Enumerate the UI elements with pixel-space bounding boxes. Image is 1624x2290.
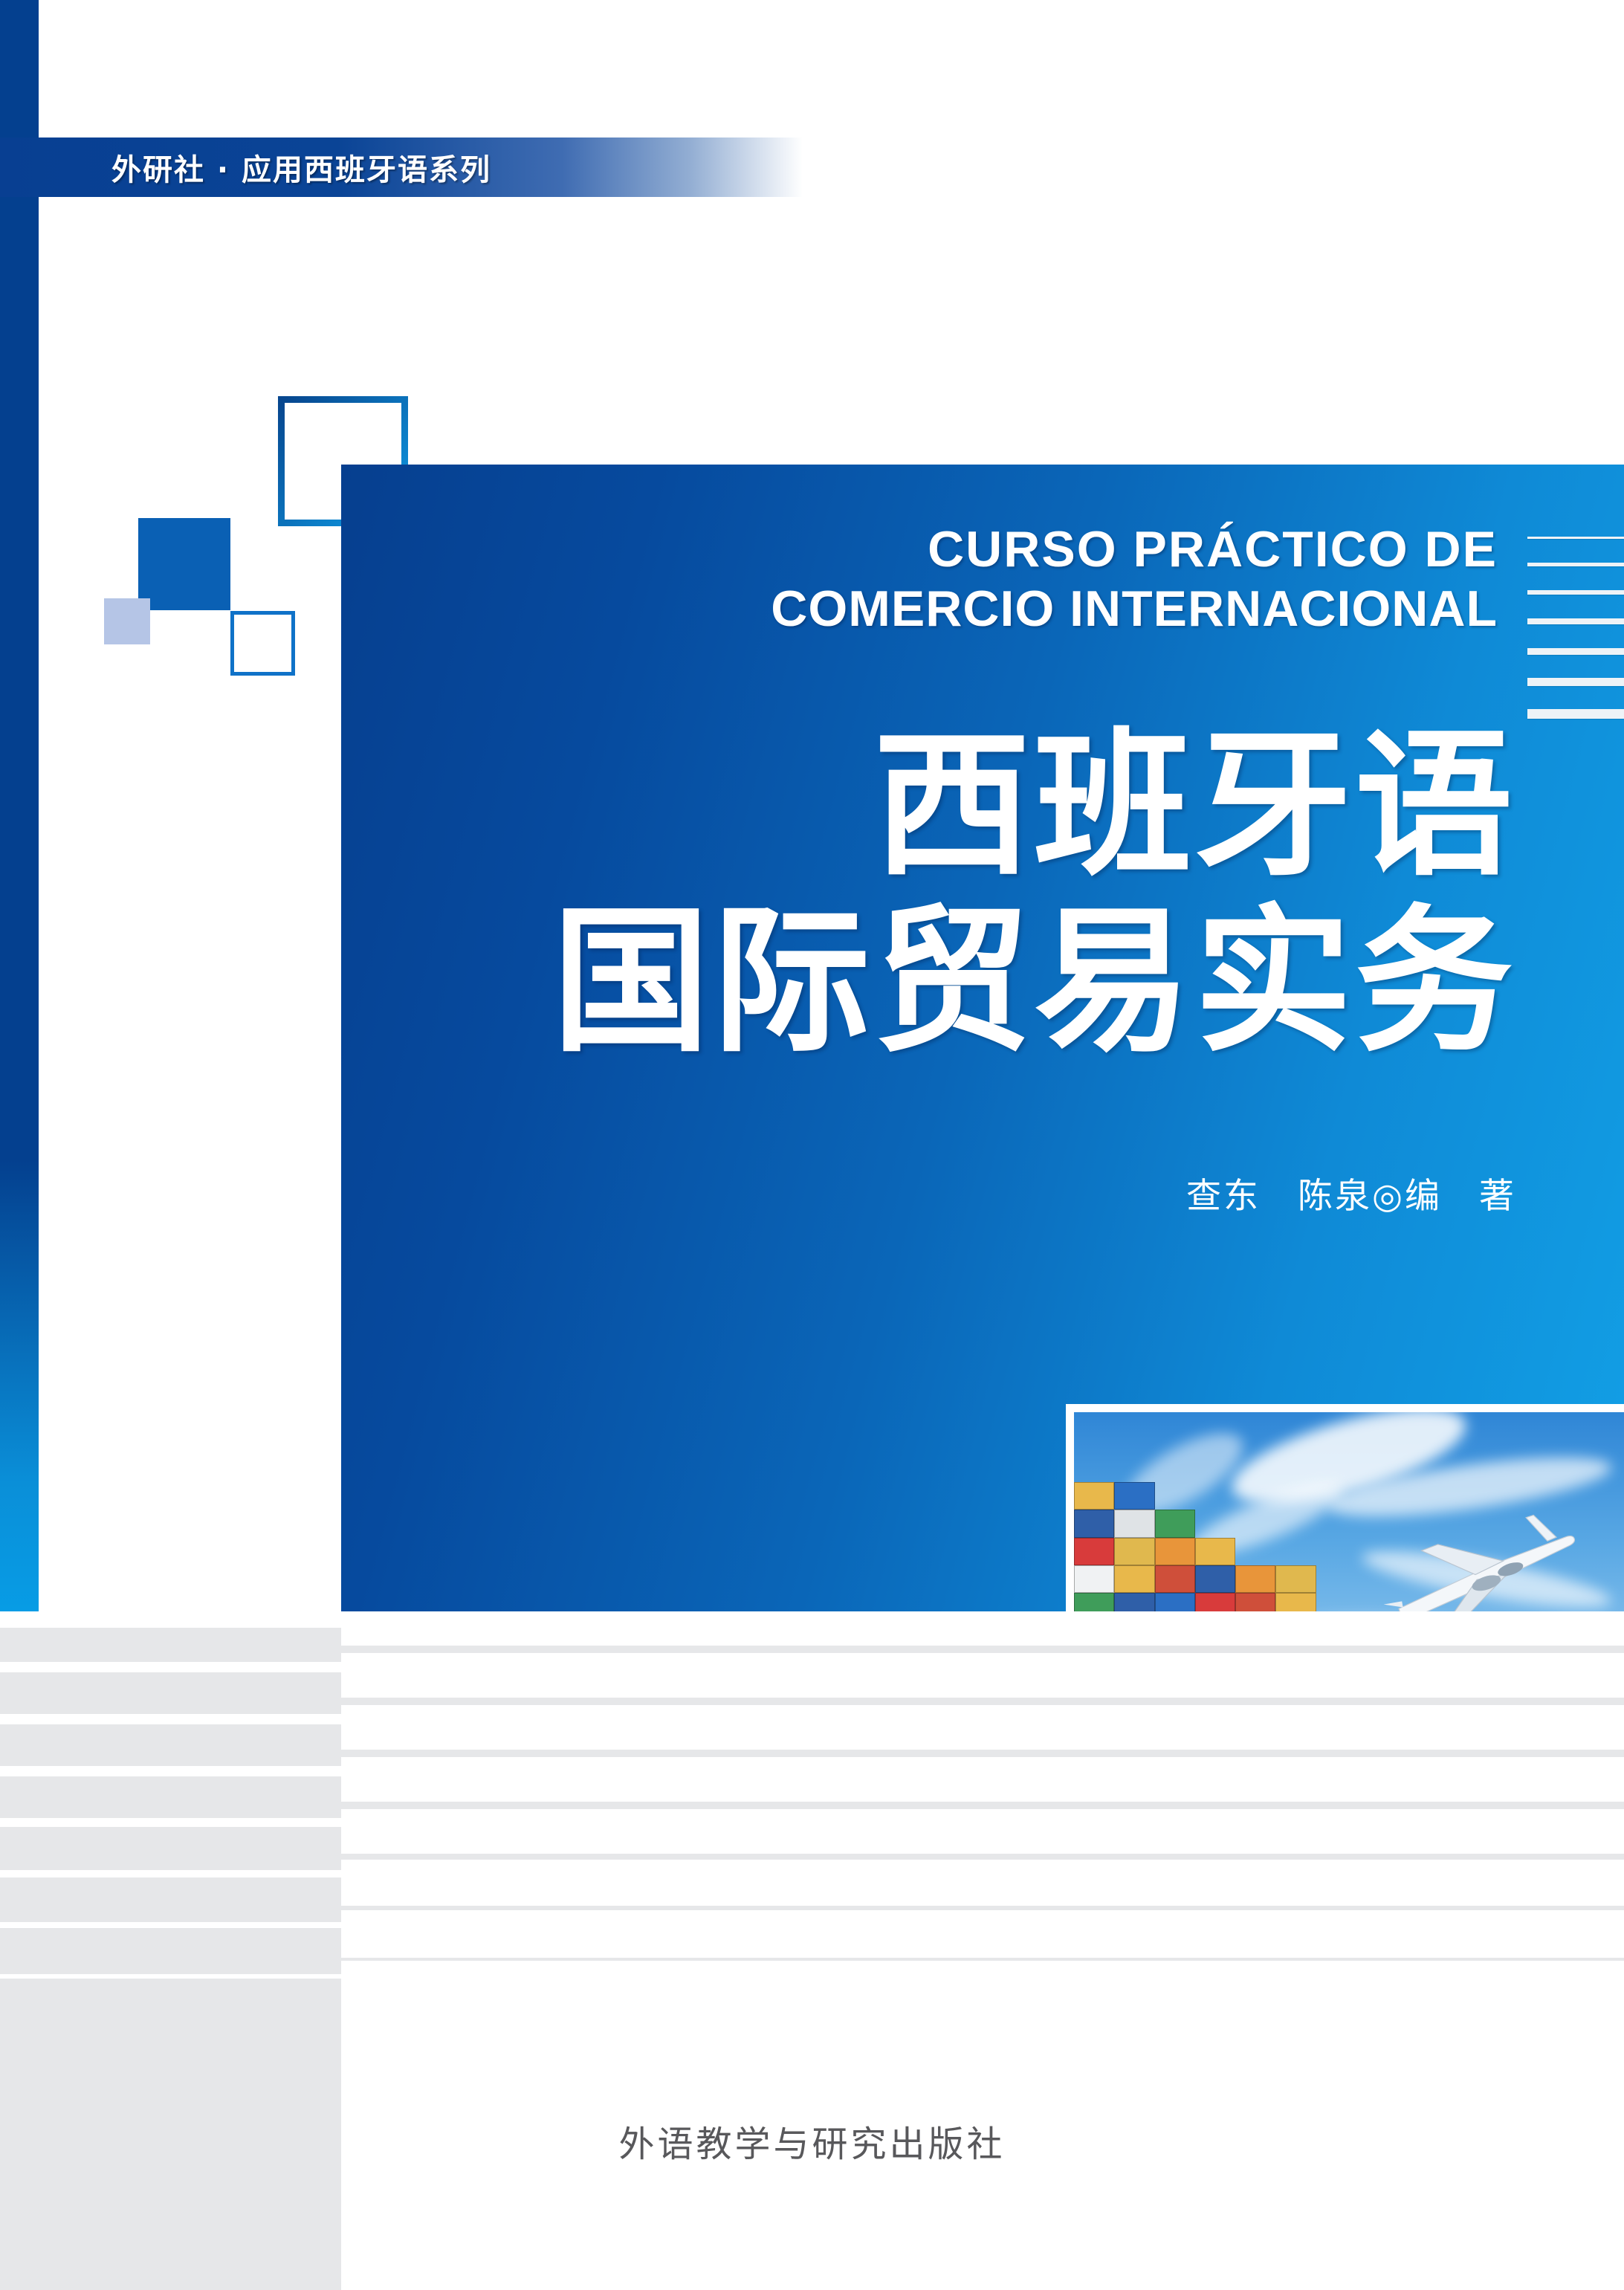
stripe-rule: [341, 1854, 1624, 1860]
decorative-rule: [1527, 537, 1624, 539]
stripe-rule: [341, 1802, 1624, 1809]
book-cover: 外研社 · 应用西班牙语系列 CURSO PRÁCTICO DE COMERCI…: [0, 0, 1624, 2290]
cargo-container: [1195, 1565, 1235, 1593]
chinese-title: 西班牙语 国际贸易实务: [341, 717, 1515, 1070]
decor-square-pale: [104, 598, 150, 644]
stripe-gap: [0, 1611, 341, 1628]
decorative-rule: [1527, 648, 1624, 655]
cargo-container: [1155, 1565, 1195, 1593]
decorative-rule: [1527, 709, 1624, 719]
stripe-gap: [0, 1818, 341, 1827]
cargo-container: [1114, 1482, 1154, 1510]
spanish-title-line-2: COMERCIO INTERNACIONAL: [341, 580, 1498, 639]
decorative-rule: [1527, 678, 1624, 686]
decor-square-filled-medium: [138, 518, 230, 610]
chinese-title-line-2: 国际贸易实务: [341, 893, 1515, 1070]
stripe-rule: [341, 1958, 1624, 1961]
stripe-rule: [341, 1906, 1624, 1910]
stripe-gap: [0, 1714, 341, 1724]
publisher-name: 外语教学与研究出版社: [0, 2115, 1624, 2167]
bottom-stripe-pattern: [0, 1611, 1624, 2290]
cargo-container: [1195, 1538, 1235, 1565]
stripe-rule: [341, 1698, 1624, 1705]
cargo-container: [1155, 1538, 1195, 1565]
decorative-rule: [1527, 590, 1624, 595]
cargo-container: [1275, 1565, 1316, 1593]
cargo-container: [1235, 1565, 1275, 1593]
cargo-container: [1074, 1538, 1114, 1565]
stripe-rule: [341, 1646, 1624, 1653]
cargo-container: [1114, 1538, 1154, 1565]
cargo-container: [1155, 1510, 1195, 1537]
cargo-container: [1114, 1565, 1154, 1593]
stripe-gap: [0, 1870, 341, 1877]
chinese-title-line-1: 西班牙语: [341, 717, 1515, 893]
spanish-title: CURSO PRÁCTICO DE COMERCIO INTERNACIONAL: [341, 520, 1498, 638]
stripe-rule: [341, 1750, 1624, 1757]
bottom-left-gray-column: [0, 1611, 341, 2290]
decor-square-outline-small: [230, 611, 295, 676]
decorative-rule-stack: [1527, 537, 1624, 719]
series-band-label: 外研社 · 应用西班牙语系列: [111, 138, 780, 196]
stripe-gap: [0, 1662, 341, 1672]
stripe-gap: [0, 1922, 341, 1928]
cargo-container: [1074, 1510, 1114, 1537]
stripe-gap: [0, 1974, 341, 1979]
cargo-container: [1114, 1510, 1154, 1537]
cargo-container: [1074, 1565, 1114, 1593]
cargo-container: [1074, 1482, 1114, 1510]
spanish-title-line-1: CURSO PRÁCTICO DE: [341, 520, 1498, 580]
stripe-gap: [0, 1766, 341, 1776]
decorative-rule: [1527, 563, 1624, 566]
left-blue-spine: [0, 0, 39, 1611]
authors-line: 查东 陈泉◎编 著: [818, 1167, 1516, 1218]
decorative-rule: [1527, 618, 1624, 624]
